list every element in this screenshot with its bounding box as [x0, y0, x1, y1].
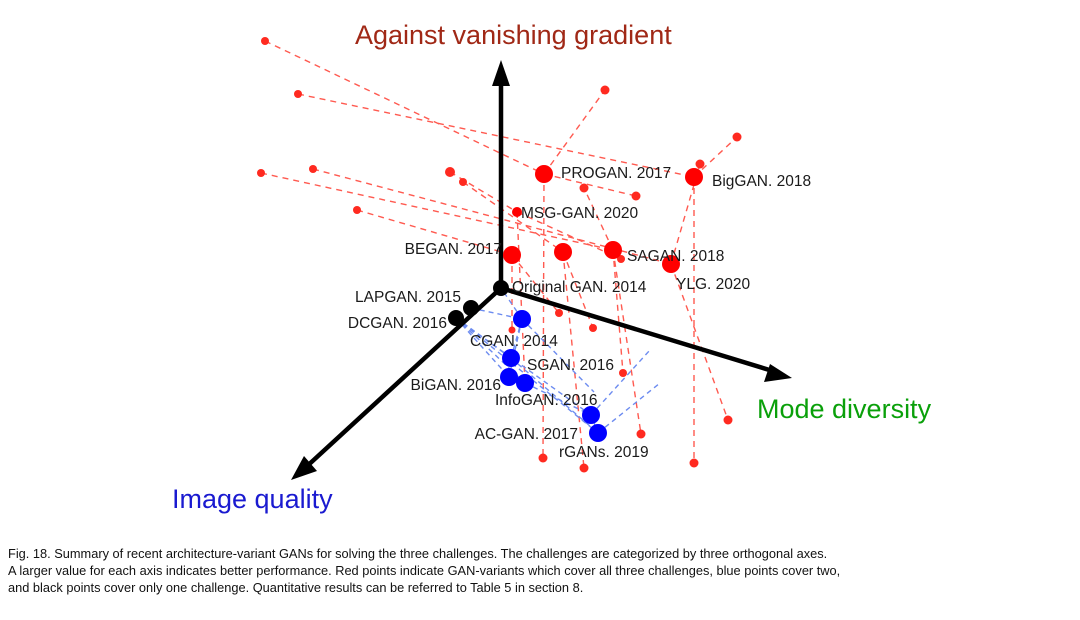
- scatter-plot-svg: PROGAN. 2017 BigGAN. 2018 MSG-GAN. 2020 …: [0, 0, 1080, 540]
- data-point-lapgan[interactable]: [463, 300, 479, 316]
- data-point-origin: [493, 280, 509, 296]
- point-label-bigan: BiGAN. 2016: [411, 377, 501, 394]
- caption-line-1: Fig. 18. Summary of recent architecture-…: [8, 545, 1072, 562]
- axis-vertical-arrowhead: [492, 60, 510, 86]
- data-point-infogan[interactable]: [516, 374, 534, 392]
- data-point-dcgan[interactable]: [448, 310, 464, 326]
- data-point-bigan[interactable]: [500, 368, 518, 386]
- point-label-ac-gan: AC-GAN. 2017: [475, 426, 578, 443]
- axis-title-against-vanishing-gradient: Against vanishing gradient: [355, 20, 672, 50]
- data-point-original-gan[interactable]: [554, 243, 572, 261]
- point-label-original-gan: Original GAN. 2014: [512, 279, 647, 296]
- point-label-biggan: BigGAN. 2018: [712, 173, 811, 190]
- point-label-ylg: YLG. 2020: [676, 276, 750, 293]
- point-label-sgan: SGAN. 2016: [527, 357, 614, 374]
- figure-3d-scatter: PROGAN. 2017 BigGAN. 2018 MSG-GAN. 2020 …: [0, 0, 1080, 540]
- point-label-rgans: rGANs. 2019: [559, 444, 649, 461]
- point-label-began: BEGAN. 2017: [405, 241, 502, 258]
- point-label-sagan: SAGAN. 2018: [627, 248, 724, 265]
- data-point-sgan[interactable]: [502, 349, 520, 367]
- data-point-cgan[interactable]: [513, 310, 531, 328]
- point-label-infogan: InfoGAN. 2016: [495, 392, 598, 409]
- axes: [291, 60, 792, 480]
- axis-title-image-quality: Image quality: [172, 484, 333, 514]
- data-point-rgans[interactable]: [589, 424, 607, 442]
- caption-line-2: A larger value for each axis indicates b…: [8, 562, 1072, 579]
- point-label-dcgan: DCGAN. 2016: [348, 315, 447, 332]
- data-point-began[interactable]: [503, 246, 521, 264]
- data-point-sagan[interactable]: [604, 241, 622, 259]
- caption-line-3: and black points cover only one challeng…: [8, 579, 1072, 596]
- point-label-cgan: CGAN. 2014: [470, 333, 558, 350]
- point-label-msg-gan: MSG-GAN. 2020: [521, 205, 639, 222]
- axis-right-arrowhead: [764, 364, 792, 382]
- point-label-lapgan: LAPGAN. 2015: [355, 289, 461, 306]
- data-point-biggan[interactable]: [685, 168, 703, 186]
- figure-caption: Fig. 18. Summary of recent architecture-…: [8, 545, 1072, 596]
- data-point-progan[interactable]: [535, 165, 553, 183]
- point-label-progan: PROGAN. 2017: [561, 165, 671, 182]
- axis-title-mode-diversity: Mode diversity: [757, 394, 932, 424]
